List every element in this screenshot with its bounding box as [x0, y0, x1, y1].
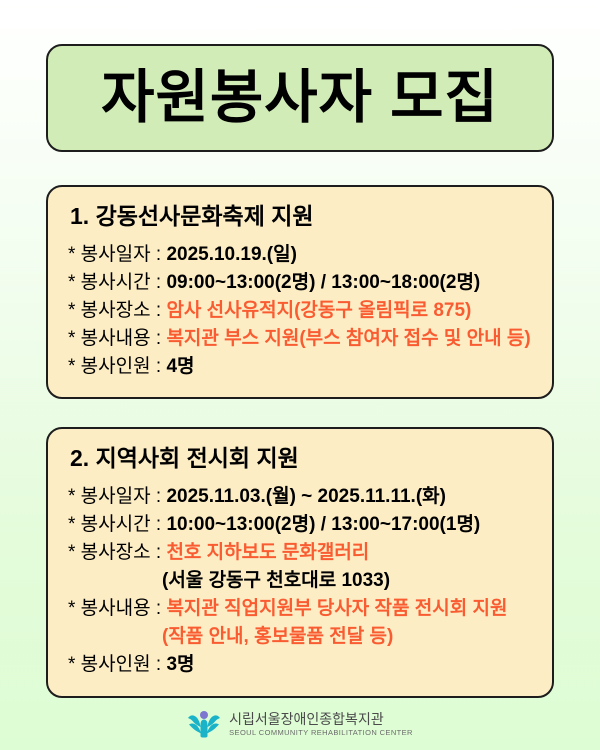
section-2-row-headcount: * 봉사인원 : 3명 [68, 651, 532, 679]
section-2-row-content: * 봉사내용 : 복지관 직업지원부 당사자 작품 전시회 지원 [68, 595, 532, 623]
section-2-row-date-label: * 봉사일자 : [68, 486, 166, 507]
organization-name-ko: 시립서울장애인종합복지관 [229, 712, 413, 726]
section-2-row-date-value: 2025.11.03.(월) ~ 2025.11.11.(화) [166, 486, 446, 507]
section-2-row-place-value: 천호 지하보도 문화갤러리 [166, 542, 369, 563]
section-2-row-date: * 봉사일자 : 2025.11.03.(월) ~ 2025.11.11.(화) [68, 483, 532, 511]
section-1-row-place-label: * 봉사장소 : [68, 300, 166, 321]
section-2-row-place-address-value: (서울 강동구 천호대로 1033) [162, 570, 390, 591]
section-2-row-content-detail: (작품 안내, 홍보물품 전달 등) [68, 623, 532, 651]
section-1-row-date-label: * 봉사일자 : [68, 244, 166, 265]
section-1-title: 1. 강동선사문화축제 지원 [70, 203, 532, 231]
section-1-row-content-value: 복지관 부스 지원(부스 참여자 접수 및 안내 등) [166, 328, 530, 349]
section-1-row-headcount-label: * 봉사인원 : [68, 356, 166, 377]
section-1-row-date-value: 2025.10.19.(일) [166, 244, 297, 265]
poster-root: 자원봉사자 모집 1. 강동선사문화축제 지원 * 봉사일자 : 2025.10… [0, 0, 600, 750]
footer-logo-text: 시립서울장애인종합복지관 SEOUL COMMUNITY REHABILITAT… [229, 712, 413, 737]
section-1-row-headcount-value: 4명 [166, 356, 194, 377]
page-title: 자원봉사자 모집 [101, 69, 499, 127]
section-1-row-place-value: 암사 선사유적지(강동구 올림픽로 875) [166, 300, 471, 321]
organization-name-en: SEOUL COMMUNITY REHABILITATION CENTER [229, 729, 413, 737]
section-card-1: 1. 강동선사문화축제 지원 * 봉사일자 : 2025.10.19.(일) *… [46, 185, 554, 399]
section-1-row-time-value: 09:00~13:00(2명) / 13:00~18:00(2명) [166, 272, 480, 293]
section-1-row-time-label: * 봉사시간 : [68, 272, 166, 293]
section-1-row-content-label: * 봉사내용 : [68, 328, 166, 349]
footer-logo-block: 시립서울장애인종합복지관 SEOUL COMMUNITY REHABILITAT… [0, 710, 600, 738]
section-1-row-date: * 봉사일자 : 2025.10.19.(일) [68, 241, 532, 269]
section-2-row-time-label: * 봉사시간 : [68, 514, 166, 535]
section-2-row-headcount-value: 3명 [166, 654, 194, 675]
section-1-row-content: * 봉사내용 : 복지관 부스 지원(부스 참여자 접수 및 안내 등) [68, 325, 532, 353]
section-2-row-headcount-label: * 봉사인원 : [68, 654, 166, 675]
section-1-row-headcount: * 봉사인원 : 4명 [68, 353, 532, 381]
section-1-row-time: * 봉사시간 : 09:00~13:00(2명) / 13:00~18:00(2… [68, 269, 532, 297]
section-2-row-time: * 봉사시간 : 10:00~13:00(2명) / 13:00~17:00(1… [68, 511, 532, 539]
section-2-row-place-label: * 봉사장소 : [68, 542, 166, 563]
section-2-row-place: * 봉사장소 : 천호 지하보도 문화갤러리 [68, 539, 532, 567]
title-banner: 자원봉사자 모집 [46, 44, 554, 152]
rehabilitation-center-figure-logo-icon [187, 710, 221, 738]
section-2-title: 2. 지역사회 전시회 지원 [70, 445, 532, 473]
section-1-row-place: * 봉사장소 : 암사 선사유적지(강동구 올림픽로 875) [68, 297, 532, 325]
section-card-2: 2. 지역사회 전시회 지원 * 봉사일자 : 2025.11.03.(월) ~… [46, 427, 554, 697]
section-2-row-content-label: * 봉사내용 : [68, 598, 166, 619]
section-2-row-content-value: 복지관 직업지원부 당사자 작품 전시회 지원 [166, 598, 507, 619]
section-2-row-time-value: 10:00~13:00(2명) / 13:00~17:00(1명) [166, 514, 480, 535]
section-2-row-place-address: (서울 강동구 천호대로 1033) [68, 567, 532, 595]
section-2-row-content-detail-value: (작품 안내, 홍보물품 전달 등) [162, 626, 393, 647]
